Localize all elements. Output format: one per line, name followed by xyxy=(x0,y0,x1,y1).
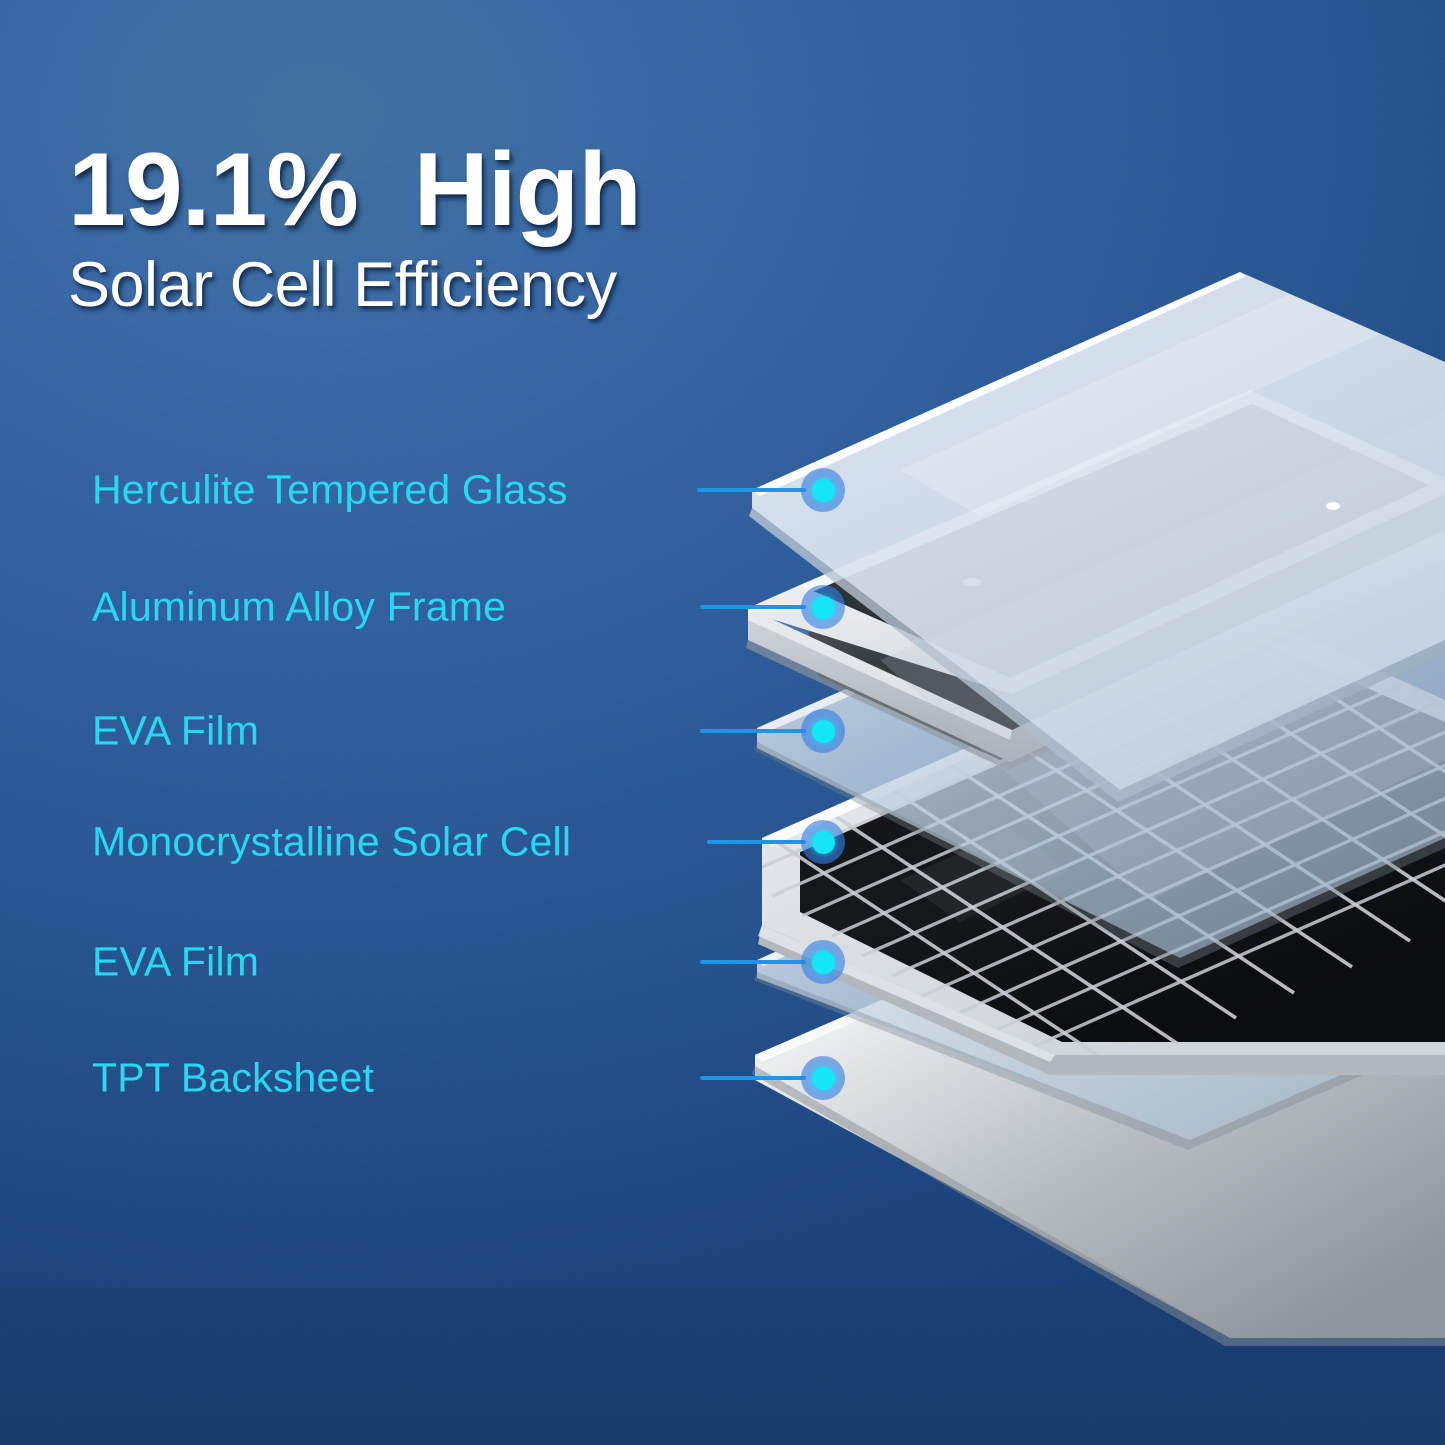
callout-label-eva-film: EVA Film xyxy=(92,939,259,986)
headline-block: 19.1% High Solar Cell Efficiency xyxy=(68,138,928,317)
callout-leader-line-3 xyxy=(700,729,806,733)
headline-efficiency: 19.1% High xyxy=(68,138,928,242)
callout-marker-dot-6[interactable] xyxy=(801,1056,845,1100)
callout-marker-dot-2[interactable] xyxy=(801,585,845,629)
callout-label-tpt-backsheet: TPT Backsheet xyxy=(92,1055,374,1102)
callout-label-solar-cell: Monocrystalline Solar Cell xyxy=(92,819,571,866)
callout-leader-line-2 xyxy=(700,605,806,609)
callout-leader-line-1 xyxy=(697,488,806,492)
callout-label-tempered-glass: Herculite Tempered Glass xyxy=(92,467,568,514)
callout-marker-dot-5[interactable] xyxy=(801,940,845,984)
callout-marker-dot-4[interactable] xyxy=(801,820,845,864)
callout-marker-dot-1[interactable] xyxy=(801,468,845,512)
callout-leader-line-5 xyxy=(700,960,806,964)
callout-marker-dot-3[interactable] xyxy=(801,709,845,753)
callout-label-eva-film: EVA Film xyxy=(92,708,259,755)
callout-label-aluminum-frame: Aluminum Alloy Frame xyxy=(92,584,506,631)
infographic-canvas: 19.1% High Solar Cell Efficiency Herculi… xyxy=(0,0,1445,1445)
callout-leader-line-6 xyxy=(700,1076,806,1080)
callout-leader-line-4 xyxy=(707,840,806,844)
headline-subtitle: Solar Cell Efficiency xyxy=(68,254,928,317)
